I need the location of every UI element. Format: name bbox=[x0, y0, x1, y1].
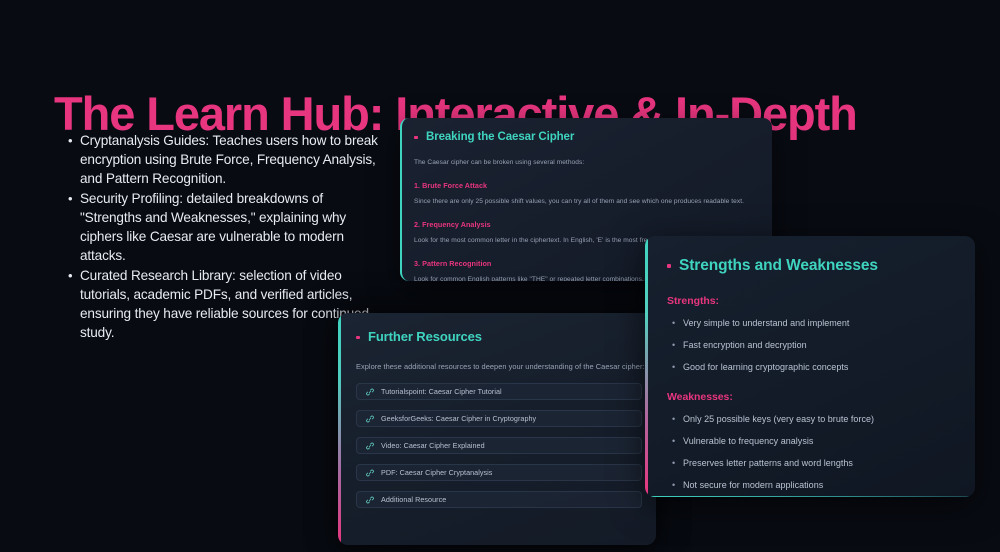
list-item: Very simple to understand and implement bbox=[683, 318, 957, 329]
weaknesses-list: Only 25 possible keys (very easy to brut… bbox=[667, 414, 957, 491]
card-heading-strengths-weaknesses: Strengths and Weaknesses bbox=[667, 256, 957, 275]
resource-label: GeeksforGeeks: Caesar Cipher in Cryptogr… bbox=[381, 414, 536, 423]
resource-link-tutorialspoint[interactable]: Tutorialspoint: Caesar Cipher Tutorial bbox=[356, 383, 642, 400]
strengths-list: Very simple to understand and implement … bbox=[667, 318, 957, 373]
list-item: Good for learning cryptographic concepts bbox=[683, 362, 957, 373]
method-title-frequency-analysis: 2. Frequency Analysis bbox=[414, 220, 758, 230]
link-icon bbox=[366, 388, 374, 396]
list-item: Fast encryption and decryption bbox=[683, 340, 957, 351]
resource-label: Additional Resource bbox=[381, 495, 446, 504]
card-content: Further Resources Explore these addition… bbox=[338, 313, 656, 545]
list-item: Preserves letter patterns and word lengt… bbox=[683, 458, 957, 469]
resource-link-video[interactable]: Video: Caesar Cipher Explained bbox=[356, 437, 642, 454]
feature-list: Cryptanalysis Guides: Teaches users how … bbox=[62, 131, 380, 343]
further-resources-card: Further Resources Explore these addition… bbox=[338, 313, 656, 545]
link-icon bbox=[366, 469, 374, 477]
link-icon bbox=[366, 415, 374, 423]
resource-link-additional[interactable]: Additional Resource bbox=[356, 491, 642, 508]
method-title-brute-force: 1. Brute Force Attack bbox=[414, 181, 758, 191]
resource-link-geeksforgeeks[interactable]: GeeksforGeeks: Caesar Cipher in Cryptogr… bbox=[356, 410, 642, 427]
list-item: Cryptanalysis Guides: Teaches users how … bbox=[80, 131, 380, 188]
card-heading-breaking: Breaking the Caesar Cipher bbox=[414, 130, 758, 144]
resource-label: Video: Caesar Cipher Explained bbox=[381, 441, 485, 450]
list-item: Only 25 possible keys (very easy to brut… bbox=[683, 414, 957, 425]
strengths-label: Strengths: bbox=[667, 295, 957, 308]
card-content: Strengths and Weaknesses Strengths: Very… bbox=[645, 236, 975, 497]
link-icon bbox=[366, 496, 374, 504]
resource-list: Tutorialspoint: Caesar Cipher Tutorial G… bbox=[356, 383, 642, 508]
link-icon bbox=[366, 442, 374, 450]
list-item: Not secure for modern applications bbox=[683, 480, 957, 491]
method-desc-brute-force: Since there are only 25 possible shift v… bbox=[414, 197, 758, 207]
weaknesses-label: Weaknesses: bbox=[667, 391, 957, 404]
list-item: Security Profiling: detailed breakdowns … bbox=[80, 189, 380, 265]
card-heading-further-resources: Further Resources bbox=[356, 329, 642, 345]
resource-label: PDF: Caesar Cipher Cryptanalysis bbox=[381, 468, 492, 477]
strengths-and-weaknesses-card: Strengths and Weaknesses Strengths: Very… bbox=[645, 236, 975, 497]
list-item: Vulnerable to frequency analysis bbox=[683, 436, 957, 447]
list-item: Curated Research Library: selection of v… bbox=[80, 266, 380, 342]
resource-label: Tutorialspoint: Caesar Cipher Tutorial bbox=[381, 387, 502, 396]
resources-intro-text: Explore these additional resources to de… bbox=[356, 361, 642, 372]
resource-link-pdf[interactable]: PDF: Caesar Cipher Cryptanalysis bbox=[356, 464, 642, 481]
breaking-intro-text: The Caesar cipher can be broken using se… bbox=[414, 158, 758, 168]
